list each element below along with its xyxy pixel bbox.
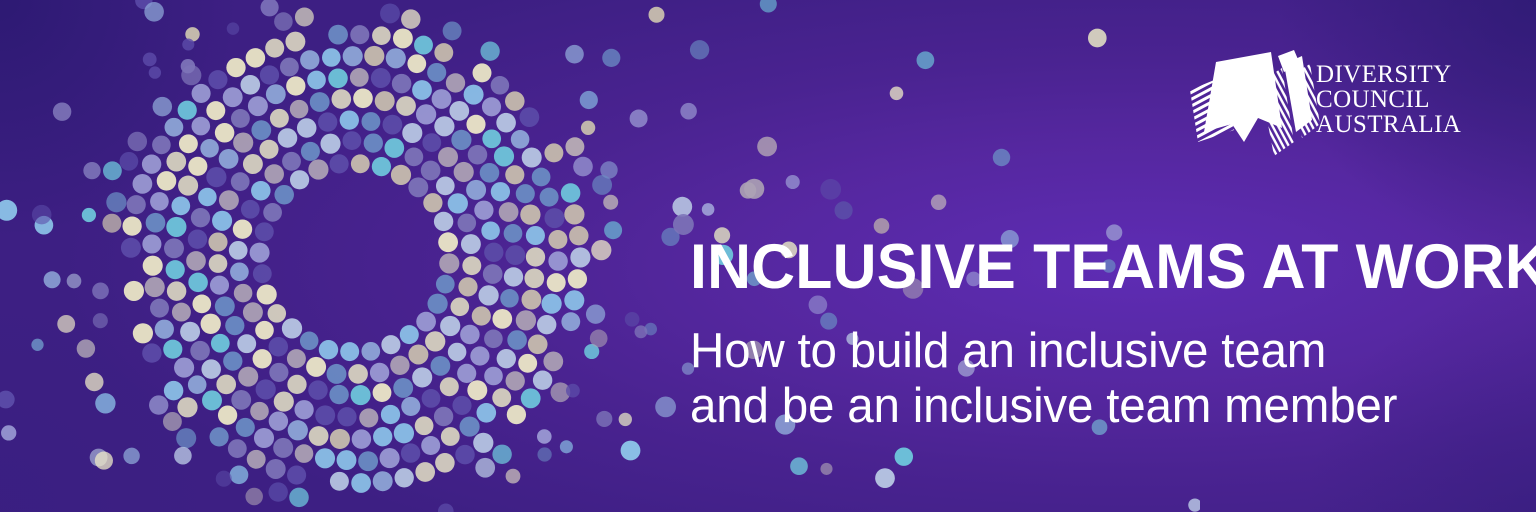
- logo-line-1: DIVERSITY: [1316, 62, 1461, 87]
- page-subtitle: How to build an inclusive team and be an…: [690, 324, 1466, 434]
- page-title: INCLUSIVE TEAMS AT WORK: [690, 234, 1462, 300]
- copy-block: INCLUSIVE TEAMS AT WORK How to build an …: [690, 234, 1490, 434]
- page-subtitle-line-2: and be an inclusive team member: [690, 379, 1466, 434]
- logo-wordmark: DIVERSITY COUNCIL AUSTRALIA: [1316, 62, 1461, 137]
- banner: DIVERSITY COUNCIL AUSTRALIA INCLUSIVE TE…: [0, 0, 1536, 512]
- logo-line-3: AUSTRALIA: [1316, 112, 1461, 137]
- logo-line-2: COUNCIL: [1316, 87, 1461, 112]
- logo[interactable]: DIVERSITY COUNCIL AUSTRALIA: [1186, 46, 1426, 166]
- page-subtitle-line-1: How to build an inclusive team: [690, 324, 1466, 379]
- diversity-council-australia-mark-icon: [1186, 46, 1322, 164]
